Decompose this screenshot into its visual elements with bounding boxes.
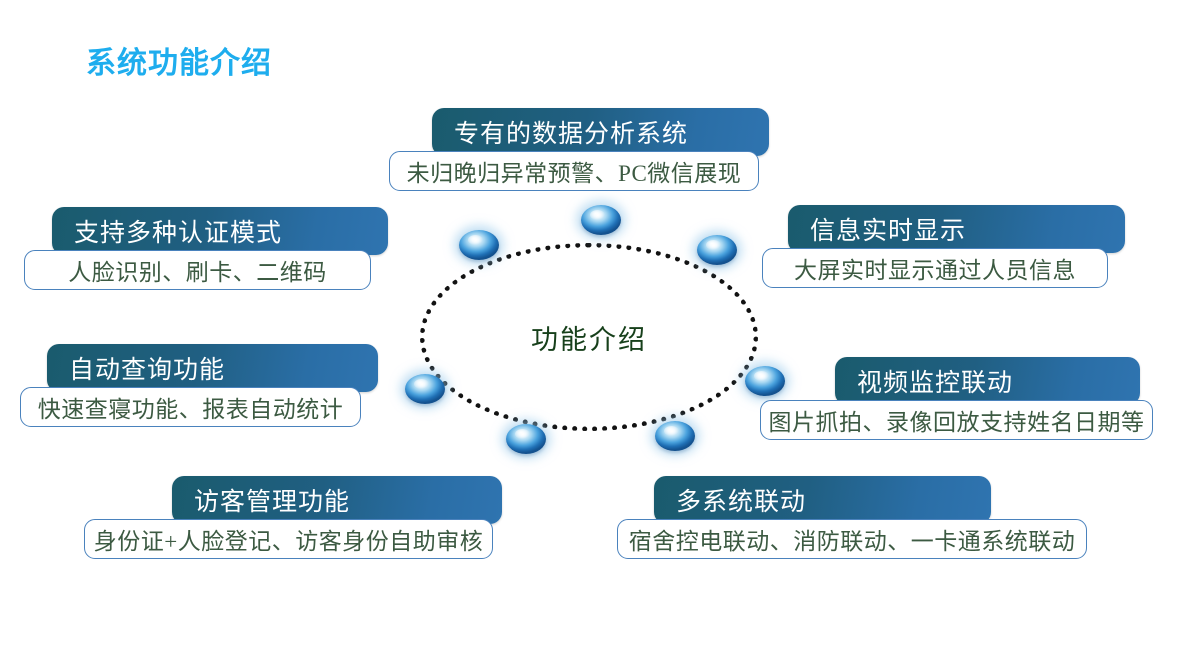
callout-auth-modes-body[interactable]: 人脸识别、刷卡、二维码 bbox=[24, 250, 371, 290]
node-top-sphere-icon bbox=[581, 205, 621, 235]
callout-visitor-management-header[interactable]: 访客管理功能 bbox=[172, 476, 502, 524]
node-lower-right-sphere-icon bbox=[655, 421, 695, 451]
callout-realtime-display-body[interactable]: 大屏实时显示通过人员信息 bbox=[762, 248, 1108, 288]
callout-realtime-display-body-label: 大屏实时显示通过人员信息 bbox=[794, 251, 1076, 285]
callout-video-linkage-header[interactable]: 视频监控联动 bbox=[835, 357, 1140, 405]
callout-realtime-display-header-label: 信息实时显示 bbox=[788, 211, 966, 247]
callout-video-linkage-body-label: 图片抓拍、录像回放支持姓名日期等 bbox=[769, 403, 1145, 437]
center-ellipse-label: 功能介绍 bbox=[420, 243, 758, 431]
callout-multi-system-linkage-header[interactable]: 多系统联动 bbox=[654, 476, 991, 524]
slide-canvas: 系统功能介绍 功能介绍 专有的数据分析系统未归晚归异常预警、PC微信展现支持多种… bbox=[0, 0, 1180, 650]
node-left-sphere-icon bbox=[405, 374, 445, 404]
callout-visitor-management-body-label: 身份证+人脸登记、访客身份自助审核 bbox=[94, 522, 483, 556]
callout-auth-modes-header-label: 支持多种认证模式 bbox=[52, 213, 282, 249]
callout-visitor-management-body[interactable]: 身份证+人脸登记、访客身份自助审核 bbox=[84, 519, 493, 559]
callout-visitor-management-header-label: 访客管理功能 bbox=[172, 482, 350, 518]
node-lower-left-sphere-icon bbox=[506, 424, 546, 454]
callout-auto-query-body[interactable]: 快速查寝功能、报表自动统计 bbox=[20, 387, 361, 427]
callout-data-analysis-body-label: 未归晚归异常预警、PC微信展现 bbox=[407, 154, 742, 188]
callout-auto-query-header-label: 自动查询功能 bbox=[47, 350, 225, 386]
callout-auto-query-body-label: 快速查寝功能、报表自动统计 bbox=[38, 390, 344, 424]
callout-data-analysis-header[interactable]: 专有的数据分析系统 bbox=[432, 108, 769, 156]
callout-multi-system-linkage-body[interactable]: 宿舍控电联动、消防联动、一卡通系统联动 bbox=[617, 519, 1087, 559]
callout-auth-modes-header[interactable]: 支持多种认证模式 bbox=[52, 207, 388, 255]
callout-realtime-display-header[interactable]: 信息实时显示 bbox=[788, 205, 1125, 253]
callout-multi-system-linkage-body-label: 宿舍控电联动、消防联动、一卡通系统联动 bbox=[629, 522, 1076, 556]
page-title: 系统功能介绍 bbox=[86, 38, 272, 82]
node-right-sphere-icon bbox=[745, 366, 785, 396]
callout-video-linkage-body[interactable]: 图片抓拍、录像回放支持姓名日期等 bbox=[760, 400, 1153, 440]
callout-auth-modes-body-label: 人脸识别、刷卡、二维码 bbox=[68, 253, 327, 287]
callout-auto-query-header[interactable]: 自动查询功能 bbox=[47, 344, 378, 392]
callout-data-analysis-header-label: 专有的数据分析系统 bbox=[432, 114, 688, 150]
node-upper-left-sphere-icon bbox=[459, 230, 499, 260]
callout-multi-system-linkage-header-label: 多系统联动 bbox=[654, 482, 806, 518]
callout-data-analysis-body[interactable]: 未归晚归异常预警、PC微信展现 bbox=[389, 151, 759, 191]
node-upper-right-sphere-icon bbox=[697, 235, 737, 265]
callout-video-linkage-header-label: 视频监控联动 bbox=[835, 363, 1013, 399]
